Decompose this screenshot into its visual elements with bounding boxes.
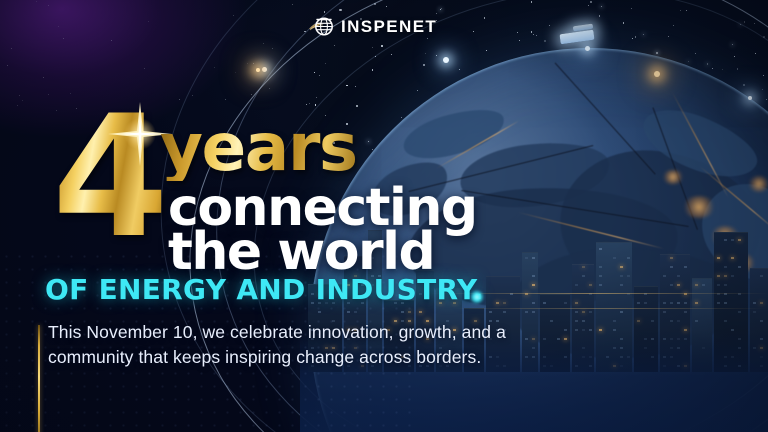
- headline-content: 4 years connecting the world OF ENERGY A…: [0, 0, 768, 432]
- headline-line-3: the world: [168, 226, 434, 278]
- body-line-2: community that keeps inspiring change ac…: [48, 345, 608, 370]
- body-line-1: This November 10, we celebrate innovatio…: [48, 320, 608, 345]
- body-copy: This November 10, we celebrate innovatio…: [48, 320, 608, 370]
- years-label: years: [160, 115, 357, 181]
- cyan-dot-glow: [470, 290, 484, 304]
- gold-accent-bar: [38, 325, 40, 432]
- headline-line-4: OF ENERGY AND INDUSTRY.: [45, 276, 484, 304]
- globe-grid-icon: [308, 14, 334, 40]
- promo-banner: INSPENET 4 years connecting the world: [0, 0, 768, 432]
- brand-name: INSPENET: [341, 17, 437, 37]
- anniversary-number: 4: [52, 93, 163, 261]
- brand-logo[interactable]: INSPENET: [308, 14, 437, 40]
